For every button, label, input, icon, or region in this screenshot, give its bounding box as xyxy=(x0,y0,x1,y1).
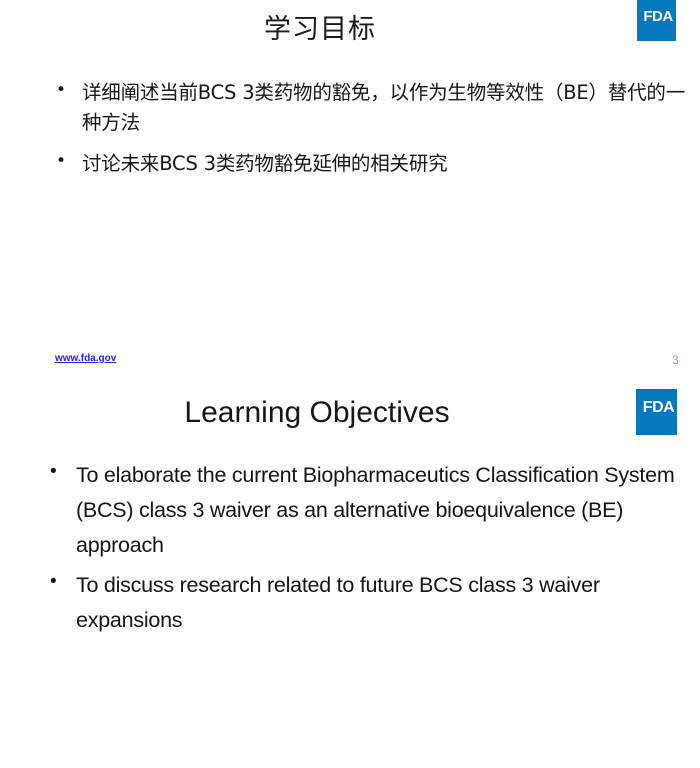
slide-chinese: FDA 学习目标 • 详细阐述当前BCS 3类药物的豁免，以作为生物等效性（BE… xyxy=(0,0,700,378)
bullet-text: 详细阐述当前BCS 3类药物的豁免，以作为生物等效性（BE）替代的一种方法 xyxy=(82,81,685,134)
list-item: • 详细阐述当前BCS 3类药物的豁免，以作为生物等效性（BE）替代的一种方法 xyxy=(52,78,692,137)
bullet-text: To elaborate the current Biopharmaceutic… xyxy=(76,463,674,557)
fda-logo-text: FDA xyxy=(636,400,681,416)
bullet-list: • To elaborate the current Biopharmaceut… xyxy=(44,458,684,644)
bullet-list: • 详细阐述当前BCS 3类药物的豁免，以作为生物等效性（BE）替代的一种方法 … xyxy=(52,78,692,191)
bullet-marker: • xyxy=(50,567,56,598)
list-item: • To elaborate the current Biopharmaceut… xyxy=(44,458,684,562)
fda-logo-stripe xyxy=(676,0,679,41)
fda-logo-stripe xyxy=(677,389,681,435)
list-item: • 讨论未来BCS 3类药物豁免延伸的相关研究 xyxy=(52,149,692,179)
slide-title: Learning Objectives xyxy=(0,396,634,431)
bullet-marker: • xyxy=(50,457,56,488)
slide-english: FDA Learning Objectives • To elaborate t… xyxy=(0,378,700,768)
slide-number: 3 xyxy=(672,353,679,367)
footer-website-link[interactable]: www.fda.gov xyxy=(55,353,116,364)
fda-logo: FDA xyxy=(636,389,681,435)
bullet-text: To discuss research related to future BC… xyxy=(76,573,600,632)
list-item: • To discuss research related to future … xyxy=(44,568,684,638)
slide-deck: FDA 学习目标 • 详细阐述当前BCS 3类药物的豁免，以作为生物等效性（BE… xyxy=(0,0,700,768)
slide-title: 学习目标 xyxy=(0,14,640,45)
fda-logo: FDA xyxy=(637,0,679,41)
bullet-marker: • xyxy=(56,78,66,104)
bullet-text: 讨论未来BCS 3类药物豁免延伸的相关研究 xyxy=(82,152,447,175)
bullet-marker: • xyxy=(56,149,66,175)
fda-logo-text: FDA xyxy=(637,9,679,24)
